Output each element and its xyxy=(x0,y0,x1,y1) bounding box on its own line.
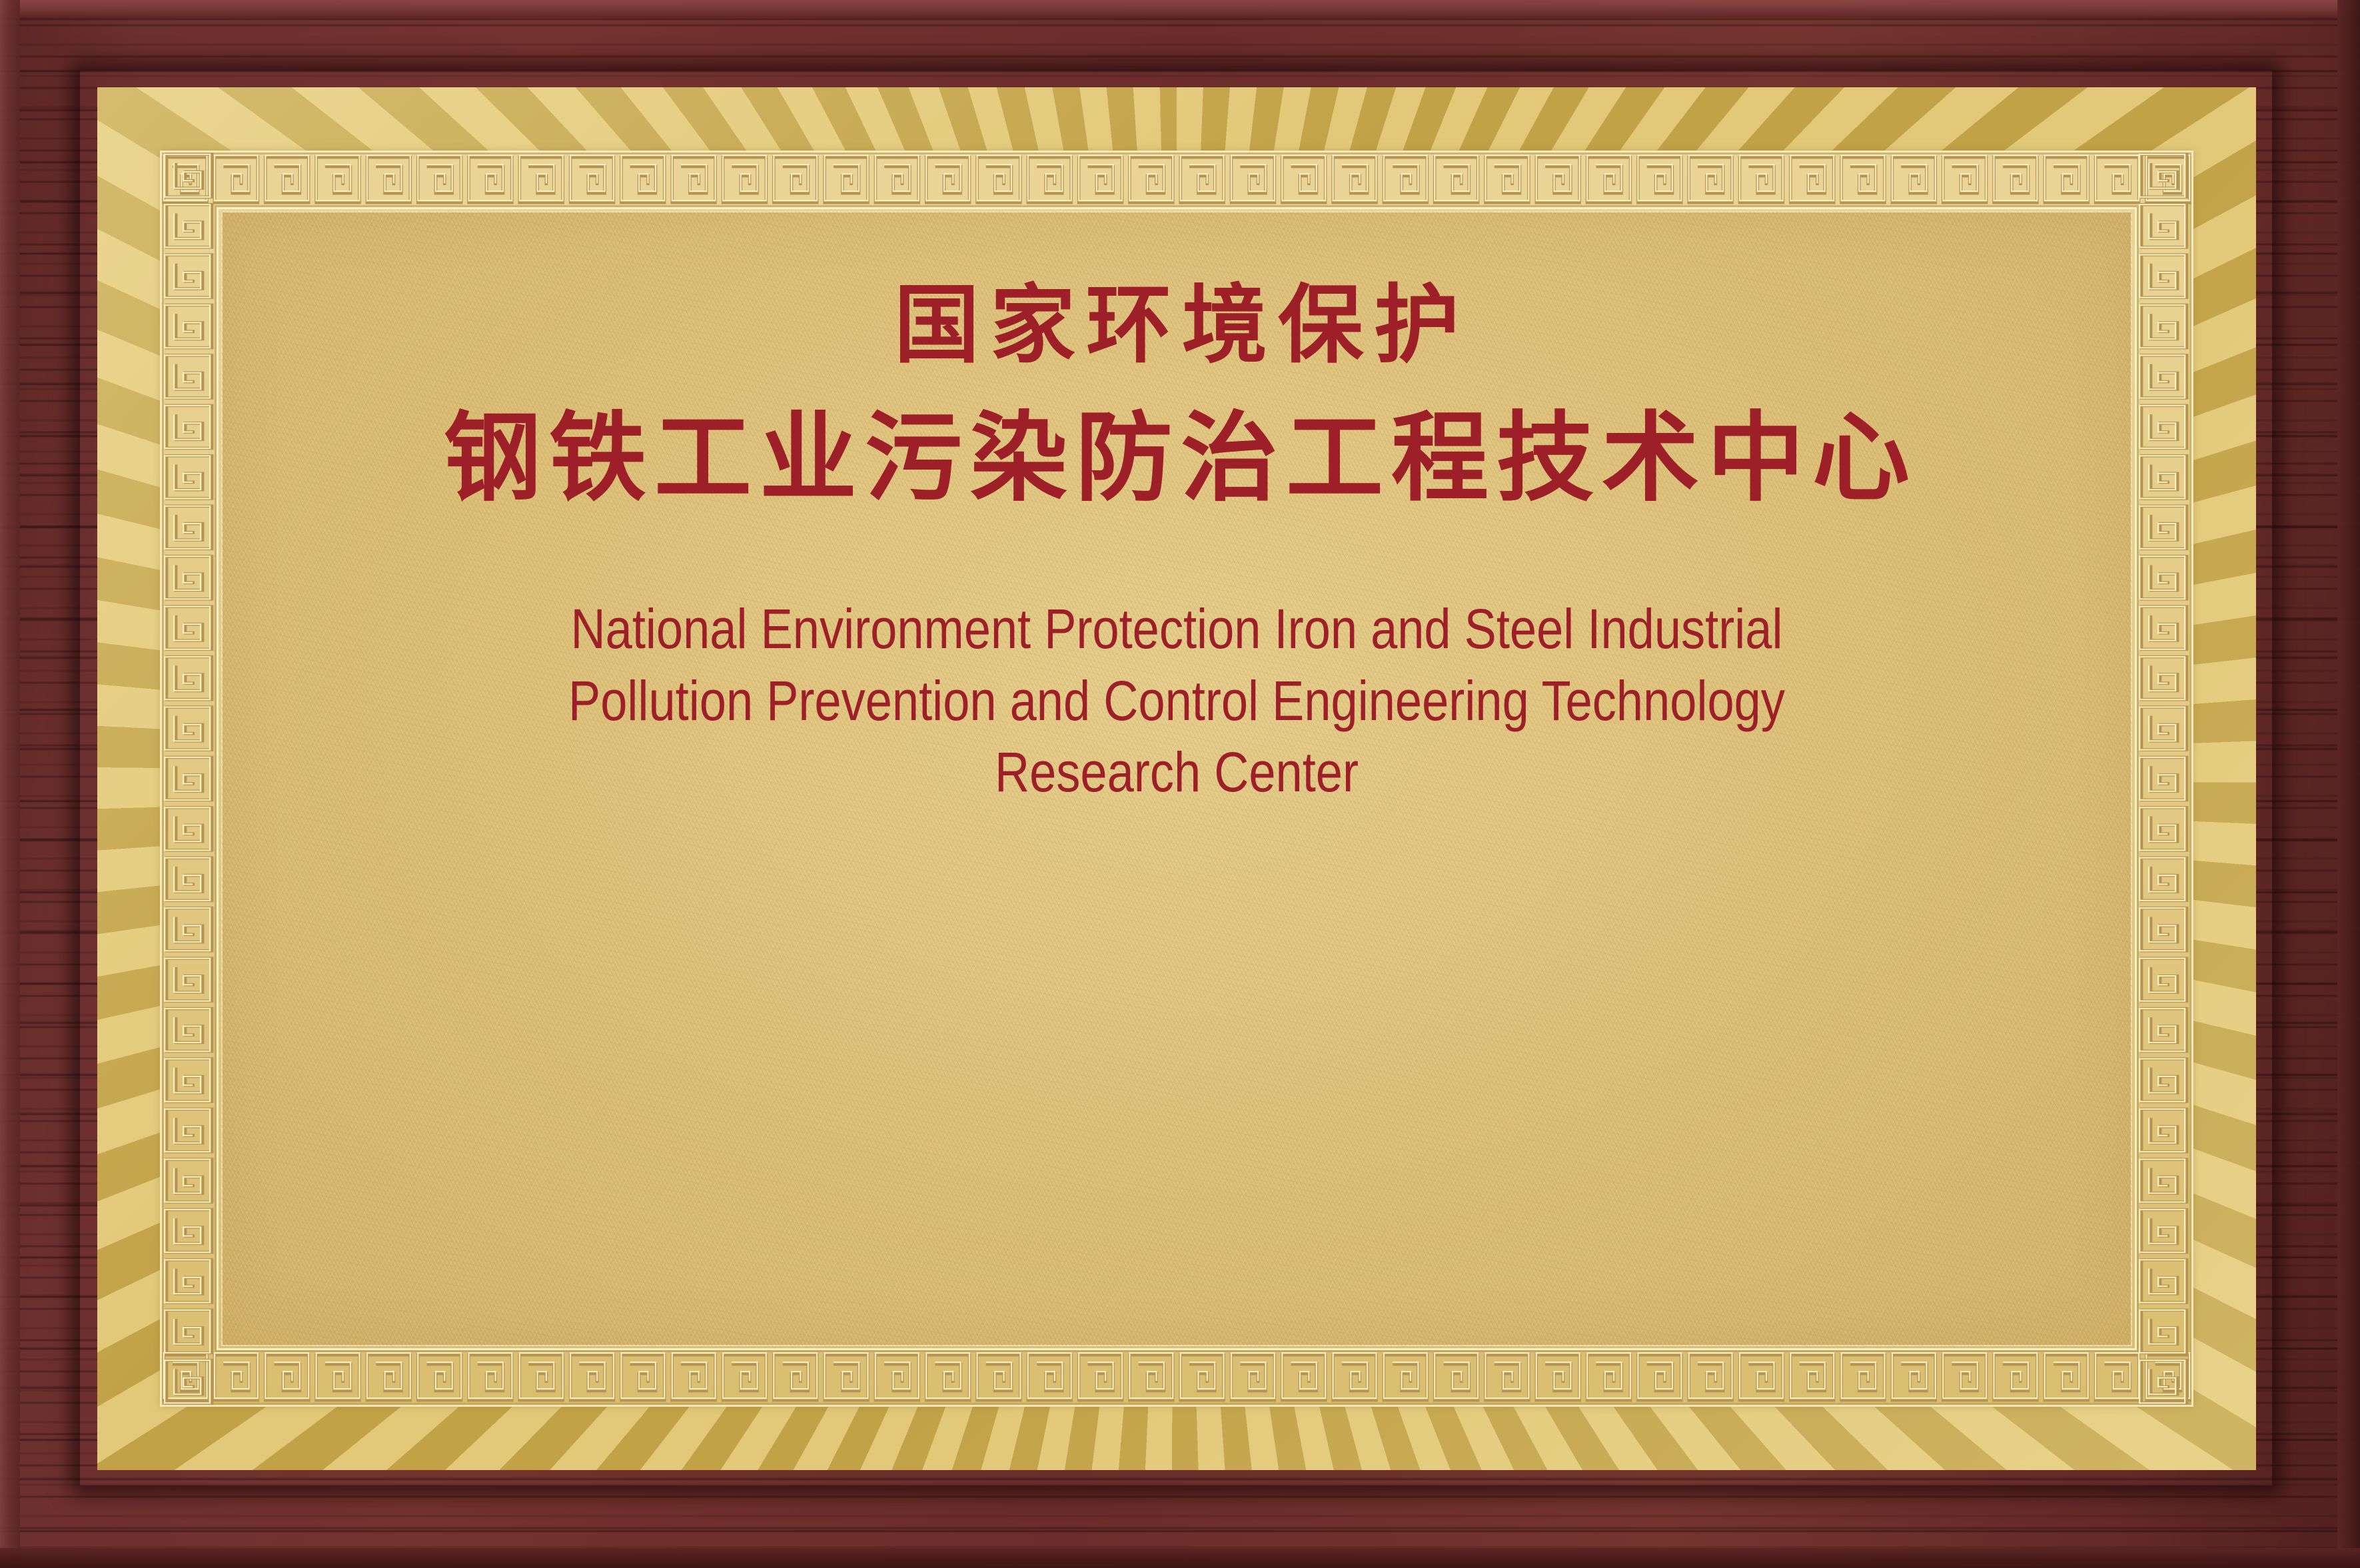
greek-key-border-right xyxy=(2135,151,2193,1407)
plaque-image: 国家环境保护 钢铁工业污染防治工程技术中心 National Environme… xyxy=(0,0,2360,1568)
english-title-line-1: National Environment Protection Iron and… xyxy=(460,593,1893,665)
chinese-title-line-2: 钢铁工业污染防治工程技术中心 xyxy=(444,410,1918,507)
english-title-line-2: Pollution Prevention and Control Enginee… xyxy=(460,665,1893,737)
english-title-line-3: Research Center xyxy=(460,737,1893,809)
inscription-content: 国家环境保护 钢铁工业污染防治工程技术中心 National Environme… xyxy=(221,211,2132,1346)
wood-frame-bottom-bevel xyxy=(0,1548,2360,1568)
greek-key-border-bottom xyxy=(160,1348,2193,1407)
greek-key-border-left xyxy=(160,151,219,1407)
chinese-title-line-1: 国家环境保护 xyxy=(894,283,1470,368)
wood-frame-right-bevel xyxy=(2337,0,2360,1568)
wood-frame-top-bevel xyxy=(0,0,2360,17)
greek-key-border-top xyxy=(160,151,2193,209)
gold-plate: 国家环境保护 钢铁工业污染防治工程技术中心 National Environme… xyxy=(97,87,2256,1470)
wood-frame-left-bevel xyxy=(0,0,20,1568)
english-title: National Environment Protection Iron and… xyxy=(460,593,1893,809)
inscription-panel: 国家环境保护 钢铁工业污染防治工程技术中心 National Environme… xyxy=(221,211,2132,1346)
